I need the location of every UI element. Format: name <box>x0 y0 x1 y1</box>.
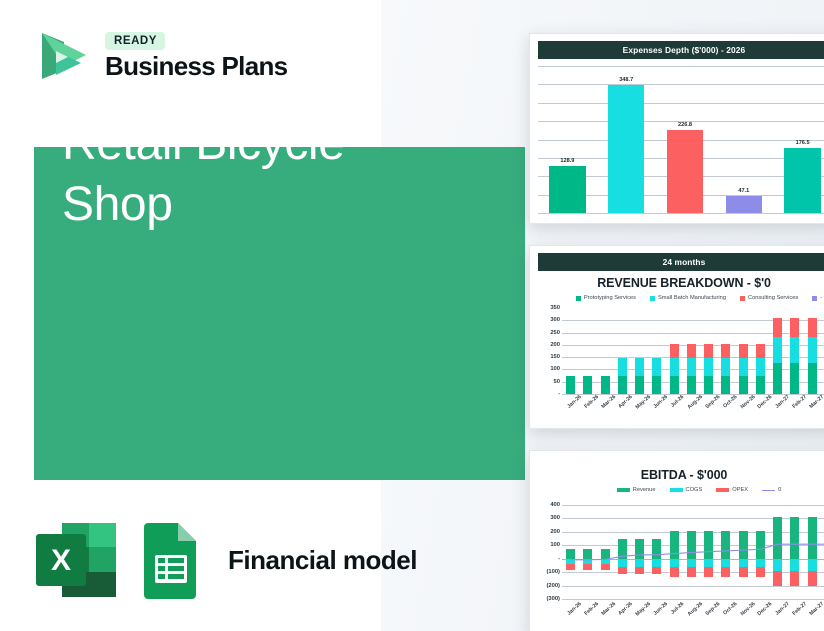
y-axis-tick: 50 <box>554 379 560 385</box>
table-row[interactable] <box>566 505 575 599</box>
formats-footer: X Financial model <box>34 521 417 599</box>
stack-slot <box>666 505 683 599</box>
page-title: Retail Bicycle Shop <box>62 113 462 236</box>
table-row[interactable] <box>566 308 575 394</box>
stack-slot <box>614 308 631 394</box>
xlab-slot: Jan-26 <box>562 601 579 631</box>
stack-slot <box>752 505 769 599</box>
legend-label: OPEX <box>732 487 748 493</box>
table-row[interactable] <box>670 505 679 599</box>
bar-segment <box>687 344 696 359</box>
brand-name: Business Plans <box>105 53 287 80</box>
bar-segment <box>652 559 661 567</box>
table-row[interactable] <box>601 308 610 394</box>
legend-swatch <box>740 296 745 301</box>
bar-segment <box>721 376 730 394</box>
legend-label: COGS <box>686 487 703 493</box>
bar-segment <box>704 358 713 375</box>
footer-label: Financial model <box>228 545 417 576</box>
y-axis-tick: 400 <box>550 502 560 508</box>
table-row[interactable] <box>652 308 661 394</box>
legend-item[interactable]: Prototyping Services <box>576 295 636 301</box>
bar-segment <box>652 358 661 375</box>
bar-segment <box>566 549 575 559</box>
y-axis-tick: 100 <box>550 366 560 372</box>
bar-segment <box>773 571 782 585</box>
gridline <box>562 599 824 600</box>
legend-swatch <box>716 488 729 492</box>
bar-segment <box>808 559 817 572</box>
bar-segment <box>652 376 661 394</box>
legend-item[interactable]: 0 <box>762 487 781 493</box>
bar-segment <box>652 567 661 574</box>
bar-segment <box>808 571 817 585</box>
bar-segment <box>721 559 730 567</box>
bar-segment <box>670 567 679 577</box>
bar-segment <box>773 363 782 394</box>
bar-segment <box>739 344 748 359</box>
revenue-period-header: 24 months <box>538 253 824 271</box>
bar-segment <box>687 376 696 394</box>
bar-segment <box>790 337 799 363</box>
table-row[interactable] <box>739 308 748 394</box>
bar-segment <box>808 363 817 394</box>
y-axis-tick: 250 <box>550 330 560 336</box>
table-row[interactable] <box>687 505 696 599</box>
stack-slot <box>666 308 683 394</box>
bar-segment <box>670 376 679 394</box>
chart-card-revenue[interactable]: 24 months REVENUE BREAKDOWN - $'0 Protot… <box>529 245 824 429</box>
table-row[interactable] <box>721 308 730 394</box>
bar-value-label: 348.7 <box>619 77 633 83</box>
y-axis-tick: (200) <box>546 583 560 589</box>
legend-label: 0 <box>778 487 781 493</box>
bar-segment <box>618 559 627 567</box>
stack-slot <box>786 308 803 394</box>
xlab-slot: Jan-26 <box>562 394 579 424</box>
bar-segment <box>566 564 575 570</box>
table-row[interactable] <box>808 308 817 394</box>
bar-slot: 176.5 <box>773 66 824 213</box>
svg-text:X: X <box>51 544 71 577</box>
bar-segment <box>583 549 592 559</box>
bar-segment <box>566 376 575 394</box>
bar-segment <box>790 363 799 394</box>
stack-slot <box>683 308 700 394</box>
stack-slot <box>786 505 803 599</box>
table-row[interactable] <box>790 505 799 599</box>
table-row[interactable] <box>635 308 644 394</box>
y-axis-tick: 300 <box>550 317 560 323</box>
table-row[interactable] <box>756 505 765 599</box>
legend-item[interactable]: Revenue <box>617 487 656 493</box>
table-row[interactable] <box>601 505 610 599</box>
legend-label: Revenue <box>633 487 656 493</box>
table-row[interactable] <box>652 505 661 599</box>
bar-segment <box>790 517 799 558</box>
chart-card-expenses[interactable]: Expenses Depth ($'000) - 2026 128.9348.7… <box>529 33 824 224</box>
y-axis-tick: 350 <box>550 305 560 311</box>
bar-segment <box>635 376 644 394</box>
bar-segment <box>790 318 799 336</box>
stack-slot <box>717 505 734 599</box>
bar-segment <box>704 344 713 359</box>
legend-swatch <box>650 296 655 301</box>
bar-segment <box>601 564 610 570</box>
bar-segment <box>635 559 644 567</box>
bar-segment <box>739 358 748 375</box>
bar-segment <box>739 376 748 394</box>
stack-slot <box>735 308 752 394</box>
bar-segment <box>687 531 696 559</box>
ebitda-chart-title: EBITDA - $'000 <box>538 468 824 482</box>
table-row[interactable] <box>618 505 627 599</box>
bar-segment <box>670 344 679 359</box>
bar-segment <box>618 567 627 574</box>
legend-swatch <box>576 296 581 301</box>
table-row[interactable] <box>773 505 782 599</box>
play-triangle-logo-icon <box>34 25 92 87</box>
legend-item[interactable]: Small Batch Manufacturing <box>650 295 726 301</box>
table-row[interactable] <box>687 308 696 394</box>
legend-item[interactable]: COGS <box>670 487 703 493</box>
microsoft-excel-icon: X <box>34 521 118 599</box>
ebitda-legend: RevenueCOGSOPEX0 <box>538 487 824 493</box>
bar-segment <box>601 549 610 559</box>
brand-logo[interactable]: READY Business Plans <box>34 25 287 87</box>
legend-item[interactable]: OPEX <box>716 487 748 493</box>
legend-swatch <box>670 488 683 492</box>
chart-card-ebitda[interactable]: EBITDA - $'000 RevenueCOGSOPEX0 40030020… <box>529 450 824 631</box>
stack-slot <box>769 505 786 599</box>
google-sheets-icon <box>138 521 204 599</box>
bar-segment <box>773 559 782 572</box>
table-row[interactable] <box>721 505 730 599</box>
stack-slot <box>683 505 700 599</box>
stack-slot <box>597 505 614 599</box>
bar-segment <box>773 337 782 363</box>
bar-segment <box>721 344 730 359</box>
stack-slot <box>752 308 769 394</box>
ebitda-plot-area: 400300200100-(100)(200)(300) <box>538 505 824 599</box>
bar-segment <box>583 564 592 570</box>
y-axis-tick: 100 <box>550 542 560 548</box>
bar-slot: 128.9 <box>538 66 597 213</box>
bar-segment <box>773 517 782 558</box>
table-row[interactable] <box>670 308 679 394</box>
bar-segment <box>687 358 696 375</box>
stack-slot <box>648 505 665 599</box>
bar-segment <box>670 531 679 559</box>
bar-segment <box>756 344 765 359</box>
table-row[interactable] <box>618 308 627 394</box>
table-row[interactable] <box>583 308 592 394</box>
bar-value-label: 128.9 <box>560 158 574 164</box>
stack-slot <box>717 308 734 394</box>
bar-segment <box>756 559 765 567</box>
bar-segment <box>618 376 627 394</box>
bar-segment <box>635 358 644 375</box>
stack-slot <box>597 308 614 394</box>
table-row[interactable] <box>704 505 713 599</box>
bar-segment <box>670 559 679 567</box>
bar-segment <box>635 539 644 558</box>
legend-swatch <box>617 488 630 492</box>
bar-segment <box>618 539 627 558</box>
bar-slot: 47.1 <box>714 66 773 213</box>
gridline <box>538 213 824 214</box>
bar-slot: 226.8 <box>656 66 715 213</box>
table-row[interactable]: 47.1 <box>726 196 762 213</box>
stack-slot <box>700 505 717 599</box>
table-row[interactable]: 348.7 <box>608 85 644 213</box>
stack-slot <box>804 505 821 599</box>
legend-swatch <box>812 296 817 301</box>
bar-segment <box>808 318 817 336</box>
stack-slot <box>700 308 717 394</box>
slide-canvas: READY Business Plans Retail Bicycle Shop… <box>0 0 824 631</box>
legend-label: Small Batch Manufacturing <box>658 295 726 301</box>
stack-slot <box>631 308 648 394</box>
bar-value-label: 176.5 <box>796 140 810 146</box>
table-row[interactable] <box>808 505 817 599</box>
stack-slot <box>579 505 596 599</box>
table-row[interactable]: 226.8 <box>667 130 703 213</box>
revenue-chart-title: REVENUE BREAKDOWN - $'0 <box>538 276 824 290</box>
stack-slot <box>769 308 786 394</box>
bar-segment <box>721 531 730 559</box>
bar-segment <box>687 567 696 577</box>
stack-slot <box>562 505 579 599</box>
bar-value-label: 226.8 <box>678 122 692 128</box>
table-row[interactable] <box>756 308 765 394</box>
y-axis-tick: - <box>558 391 560 397</box>
bar-segment <box>808 517 817 558</box>
stack-slot <box>579 308 596 394</box>
expenses-plot-area: 128.9348.7226.847.1176.5 <box>538 66 824 213</box>
bar-segment <box>618 358 627 375</box>
bar-segment <box>739 531 748 559</box>
legend-swatch <box>762 490 775 491</box>
bar-segment <box>687 559 696 567</box>
bar-segment <box>773 318 782 336</box>
y-axis-tick: - <box>558 556 560 562</box>
y-axis-tick: (100) <box>546 569 560 575</box>
bar-segment <box>704 559 713 567</box>
bar-segment <box>756 376 765 394</box>
bar-segment <box>704 531 713 559</box>
y-axis-tick: (300) <box>546 596 560 602</box>
bar-segment <box>790 559 799 572</box>
bar-slot: 348.7 <box>597 66 656 213</box>
legend-item[interactable]: - <box>812 295 822 301</box>
revenue-plot-area: 35030025020015010050- <box>538 308 824 394</box>
table-row[interactable]: 176.5 <box>784 148 820 213</box>
y-axis-tick: 200 <box>550 342 560 348</box>
y-axis-tick: 200 <box>550 529 560 535</box>
bar-segment <box>721 358 730 375</box>
bar-segment <box>808 337 817 363</box>
bar-segment <box>739 567 748 577</box>
legend-label: Consulting Services <box>748 295 798 301</box>
legend-label: Prototyping Services <box>584 295 636 301</box>
stack-slot <box>631 505 648 599</box>
stack-slot <box>804 308 821 394</box>
table-row[interactable] <box>773 308 782 394</box>
table-row[interactable] <box>790 308 799 394</box>
bar-segment <box>739 559 748 567</box>
table-row[interactable] <box>635 505 644 599</box>
stack-slot <box>735 505 752 599</box>
table-row[interactable] <box>739 505 748 599</box>
bar-segment <box>601 376 610 394</box>
bar-segment <box>721 567 730 577</box>
bar-segment <box>704 376 713 394</box>
ready-badge: READY <box>105 32 165 51</box>
expenses-chart-title: Expenses Depth ($'000) - 2026 <box>538 41 824 59</box>
table-row[interactable] <box>583 505 592 599</box>
table-row[interactable] <box>704 308 713 394</box>
bar-segment <box>756 567 765 577</box>
stack-slot <box>562 308 579 394</box>
bar-segment <box>583 376 592 394</box>
bar-segment <box>704 567 713 577</box>
stack-slot <box>648 308 665 394</box>
bar-value-label: 47.1 <box>738 188 749 194</box>
legend-label: - <box>820 295 822 301</box>
bar-segment <box>756 358 765 375</box>
y-axis-tick: 300 <box>550 515 560 521</box>
bar-segment <box>635 567 644 574</box>
bar-segment <box>670 358 679 375</box>
revenue-legend: Prototyping ServicesSmall Batch Manufact… <box>538 295 824 301</box>
bar-segment <box>652 539 661 558</box>
legend-item[interactable]: Consulting Services <box>740 295 798 301</box>
stack-slot <box>614 505 631 599</box>
y-axis-tick: 150 <box>550 354 560 360</box>
bar-segment <box>756 531 765 559</box>
bar-segment <box>790 571 799 585</box>
table-row[interactable]: 128.9 <box>549 166 585 213</box>
